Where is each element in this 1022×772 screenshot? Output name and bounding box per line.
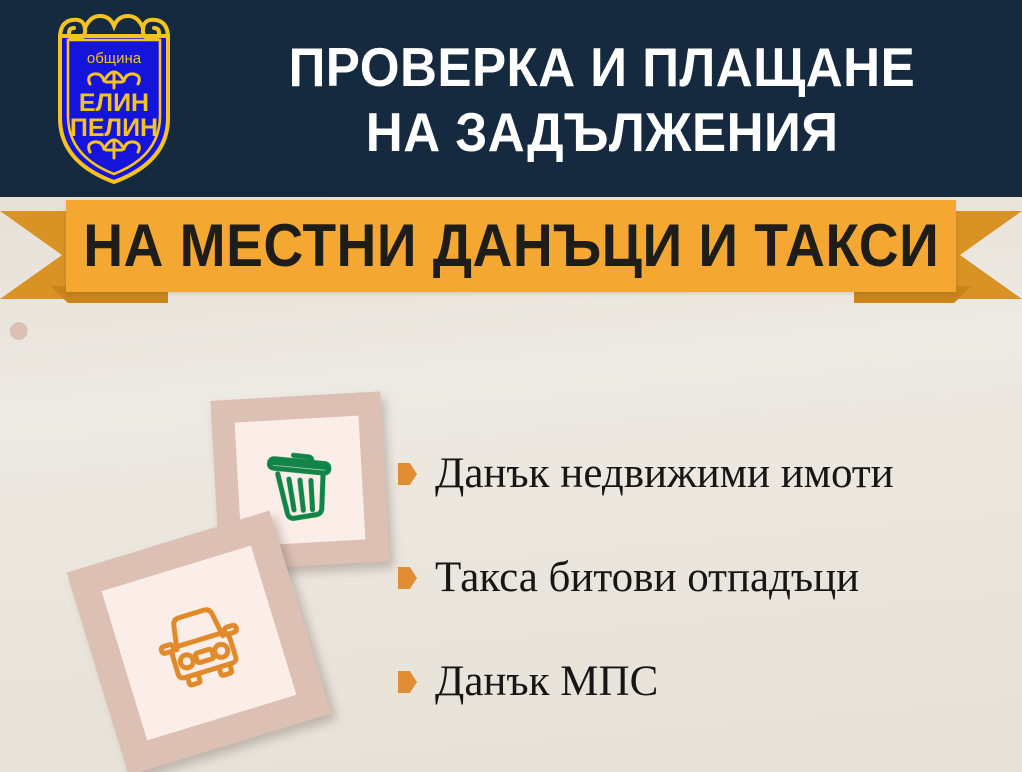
house-icon (68, 363, 177, 472)
title-line-1: ПРОВЕРКА И ПЛАЩАНЕ (289, 35, 916, 100)
stamp-inner-property (39, 334, 204, 499)
ribbon-label: НА МЕСТНИ ДАНЪЦИ И ТАКСИ (83, 216, 939, 276)
list-item: Такса битови отпадъци (398, 526, 1012, 630)
logo-line-obshtina: община (87, 50, 142, 67)
list-item-label: Данък МПС (435, 658, 658, 705)
poster-canvas: община ЕЛИН ПЕЛИН ПРОВЕРКА И ПЛАЩАНЕ НА … (0, 0, 1022, 772)
list-item-label: Данък недвижими имоти (435, 450, 894, 497)
logo-line-pelin: ПЕЛИН (70, 114, 158, 142)
page-title: ПРОВЕРКА И ПЛАЩАНЕ НА ЗАДЪЛЖЕНИЯ (196, 20, 1008, 180)
bullet-arrow-icon (398, 671, 417, 693)
bullet-arrow-icon (398, 567, 417, 589)
list-item-label: Такса битови отпадъци (435, 554, 859, 601)
stamp-inner-vehicle (102, 546, 296, 740)
car-front-icon (137, 581, 262, 706)
subtitle-ribbon: НА МЕСТНИ ДАНЪЦИ И ТАКСИ (0, 196, 1022, 308)
logo-line-elin: ЕЛИН (79, 89, 149, 117)
tax-type-list: Данък недвижими имоти Такса битови отпад… (398, 422, 1012, 734)
bullet-arrow-icon (398, 463, 417, 485)
list-item: Данък недвижими имоти (398, 422, 1012, 526)
list-item: Данък МПС (398, 630, 1012, 734)
stamp-card-property-tax (9, 304, 235, 530)
ribbon-band: НА МЕСТНИ ДАНЪЦИ И ТАКСИ (66, 200, 956, 292)
municipality-logo: община ЕЛИН ПЕЛИН (38, 10, 190, 188)
title-line-2: НА ЗАДЪЛЖЕНИЯ (366, 100, 839, 165)
